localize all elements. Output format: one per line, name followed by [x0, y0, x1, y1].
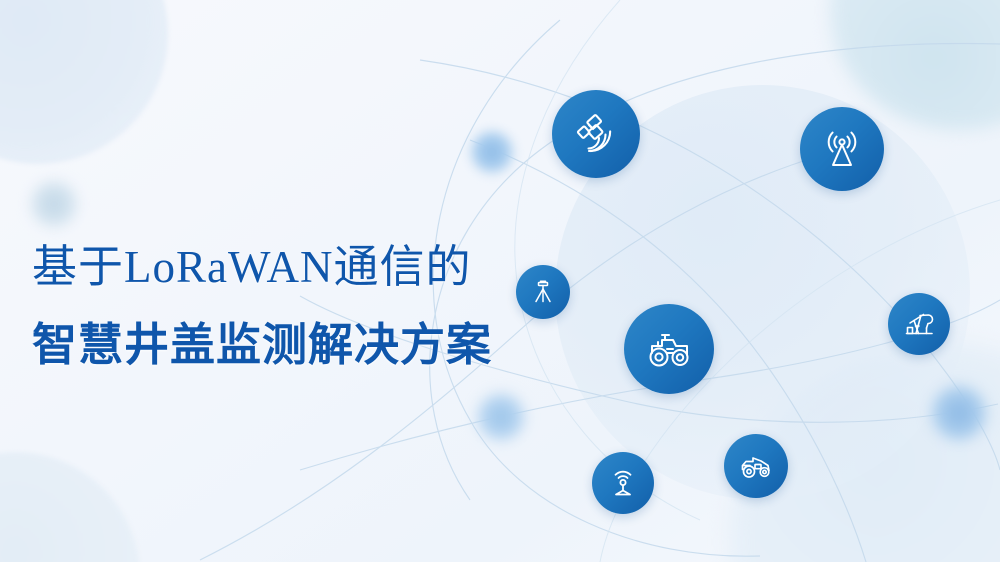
tractor-icon — [642, 322, 696, 376]
title-line-1: 基于LoRaWAN通信的 — [32, 228, 592, 306]
satellite-signal-icon — [570, 108, 622, 160]
node-tractor — [624, 304, 714, 394]
accent-dot-right — [928, 382, 990, 444]
oil-pumpjack-icon — [901, 306, 937, 342]
top-left-blob — [0, 0, 168, 164]
node-tower — [800, 107, 884, 191]
radio-tower-icon — [818, 125, 866, 173]
bottom-left-blob — [0, 452, 140, 562]
node-satellite — [552, 90, 640, 178]
node-oil-pump — [888, 293, 950, 355]
accent-dot-upper — [468, 128, 516, 176]
harvester-icon — [737, 447, 775, 485]
title-slide: 基于LoRaWAN通信的 智慧井盖监测解决方案 — [0, 0, 1000, 562]
node-sensor-beacon — [592, 452, 654, 514]
node-harvester — [724, 434, 788, 498]
accent-dot-far-left — [28, 178, 80, 230]
title-line-2: 智慧井盖监测解决方案 — [32, 306, 592, 384]
accent-dot-left — [474, 390, 528, 444]
page-title: 基于LoRaWAN通信的 智慧井盖监测解决方案 — [32, 228, 592, 384]
wireless-sensor-icon — [605, 465, 641, 501]
